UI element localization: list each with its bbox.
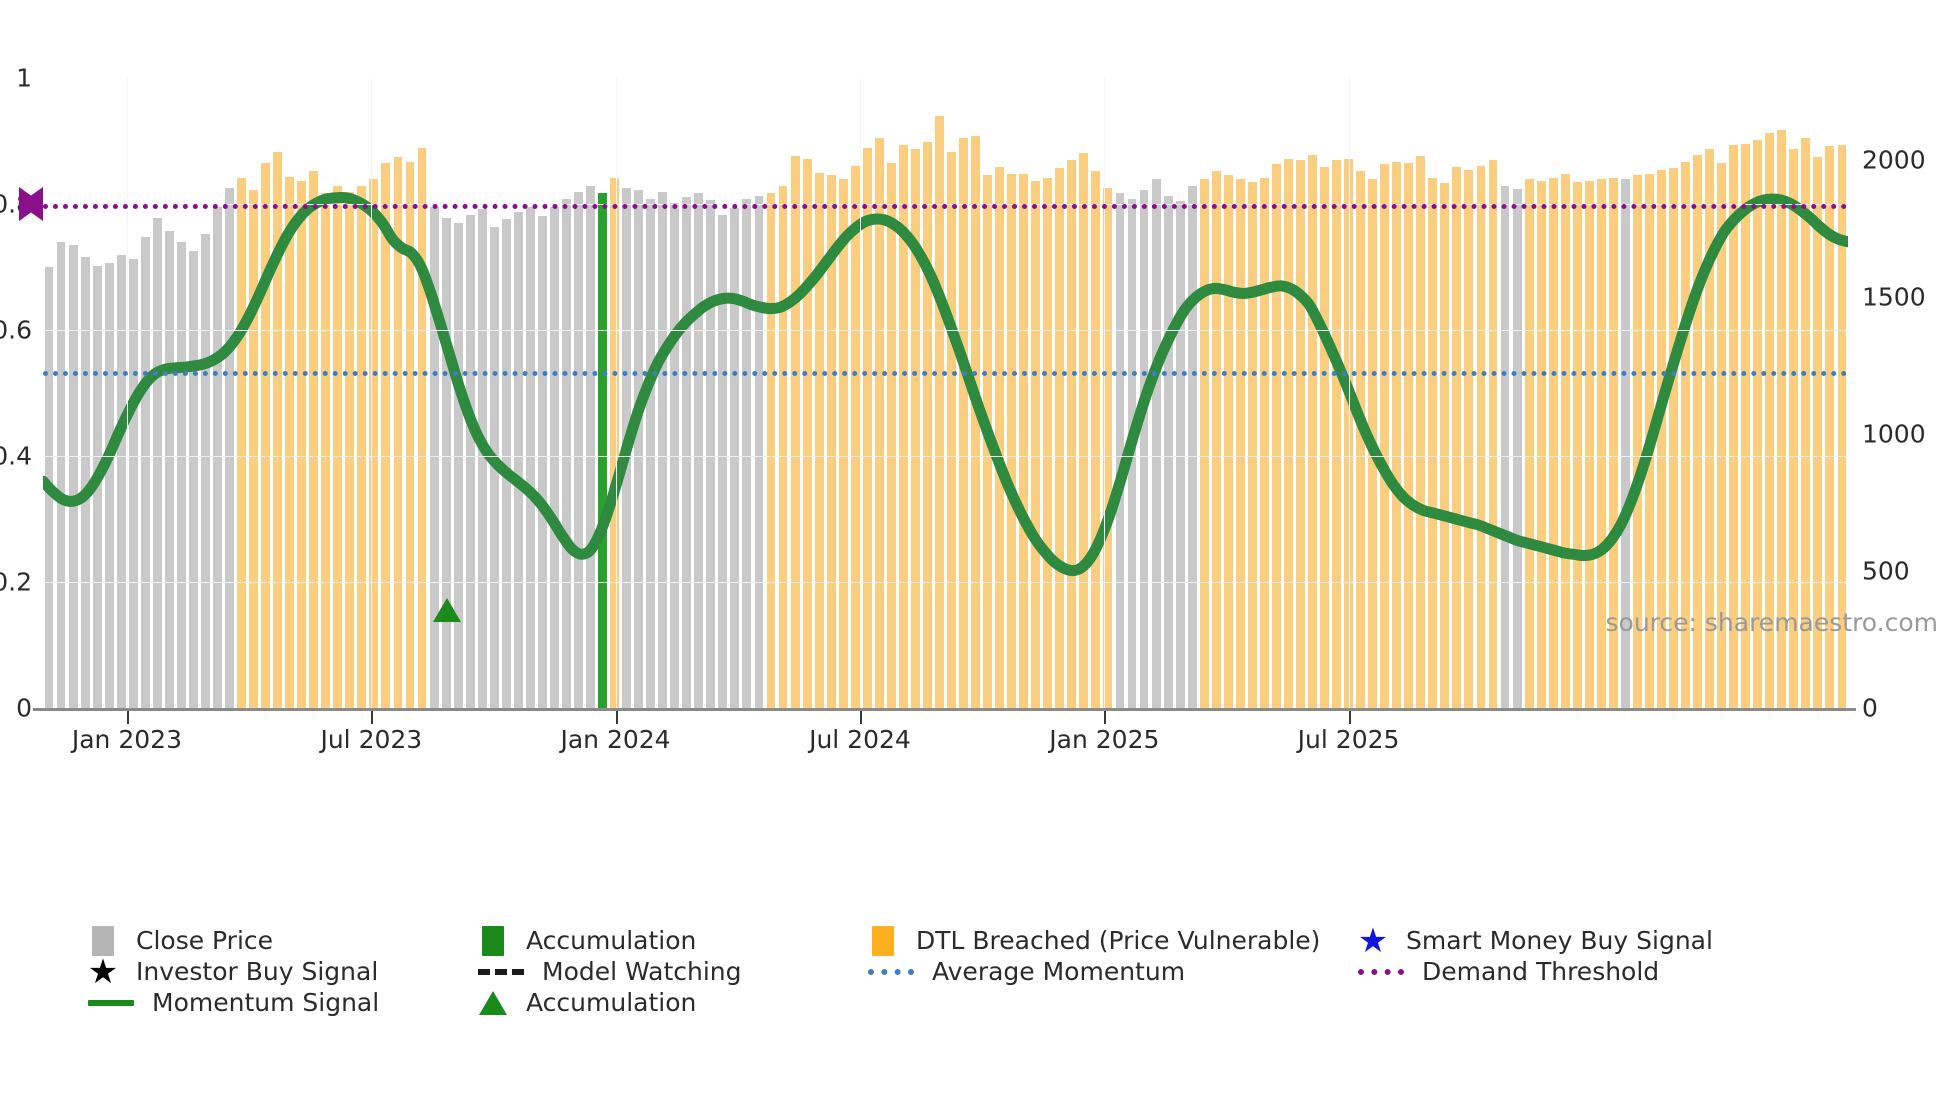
legend-swatch-square	[868, 940, 898, 941]
legend-item-label: DTL Breached (Price Vulnerable)	[916, 926, 1320, 955]
triangle-up-icon	[479, 991, 507, 1015]
accumulation-triangle-marker	[433, 598, 461, 622]
y-axis-right-tick-label: 1500	[1862, 283, 1926, 312]
y-axis-left-tick-label: 0.4	[0, 442, 32, 471]
x-axis-tick-mark	[1104, 711, 1106, 724]
gridline-horizontal	[43, 330, 1848, 331]
legend-item[interactable]: Momentum Signal	[88, 987, 478, 1018]
x-axis-tick-label: Jul 2025	[1298, 725, 1400, 754]
legend-item[interactable]: ★Investor Buy Signal	[88, 956, 478, 987]
gridline-horizontal	[43, 456, 1848, 457]
y-axis-left-tick-label: 0.2	[0, 568, 32, 597]
legend-item-label: Smart Money Buy Signal	[1406, 926, 1713, 955]
chart-legend: Close PriceAccumulationDTL Breached (Pri…	[88, 925, 1948, 1018]
x-axis-tick-mark	[616, 711, 618, 724]
dotted-line-icon	[1358, 969, 1404, 975]
legend-item[interactable]: Accumulation	[478, 925, 868, 956]
star-icon: ★	[1358, 926, 1388, 956]
y-axis-left-tick-label: 0	[16, 694, 32, 723]
chart-root: 00.20.40.60.810500100015002000Jan 2023Ju…	[0, 0, 1960, 1102]
y-axis-right-tick-label: 0	[1862, 694, 1878, 723]
gridline-vertical	[1349, 78, 1350, 708]
x-axis-tick-mark	[127, 711, 129, 724]
legend-swatch-dotted	[1358, 971, 1404, 972]
y-axis-left-tick-label: 1	[16, 64, 32, 93]
x-axis-tick-label: Jan 2023	[72, 725, 182, 754]
x-axis-tick-label: Jul 2023	[320, 725, 422, 754]
gridline-vertical	[127, 78, 128, 708]
legend-item-label: Close Price	[136, 926, 273, 955]
legend-item-label: Model Watching	[542, 957, 742, 986]
x-axis-tick-mark	[1349, 711, 1351, 724]
y-axis-right-tick-label: 500	[1862, 557, 1910, 586]
y-axis-right-tick-label: 1000	[1862, 420, 1926, 449]
legend-swatch-star: ★	[88, 971, 118, 972]
dashed-line-icon	[478, 969, 524, 975]
y-axis-left-tick-label: 0.6	[0, 316, 32, 345]
legend-item-label: Investor Buy Signal	[136, 957, 378, 986]
legend-swatch-dashed	[478, 971, 524, 972]
legend-swatch-square	[478, 940, 508, 941]
x-axis-line	[33, 708, 1856, 711]
legend-item[interactable]: DTL Breached (Price Vulnerable)	[868, 925, 1358, 956]
x-axis-tick-mark	[860, 711, 862, 724]
legend-item-label: Accumulation	[526, 926, 696, 955]
legend-item[interactable]: Accumulation	[478, 987, 868, 1018]
legend-item[interactable]: Close Price	[88, 925, 478, 956]
momentum-signal-line	[43, 197, 1848, 570]
demand-threshold-line	[43, 204, 1848, 209]
legend-swatch-square	[88, 940, 118, 941]
demand-threshold-diamond-marker	[19, 187, 43, 221]
legend-item[interactable]: Model Watching	[478, 956, 868, 987]
legend-swatch-line	[88, 1002, 134, 1003]
legend-item-label: Momentum Signal	[152, 988, 379, 1017]
legend-item[interactable]: ★Smart Money Buy Signal	[1358, 925, 1748, 956]
momentum-line-layer	[43, 78, 1848, 708]
legend-item-label: Accumulation	[526, 988, 696, 1017]
legend-square-icon	[482, 926, 504, 956]
star-icon: ★	[88, 957, 118, 987]
gridline-vertical	[371, 78, 372, 708]
y-axis-right-tick-label: 2000	[1862, 146, 1926, 175]
x-axis-tick-mark	[371, 711, 373, 724]
dotted-line-icon	[868, 969, 914, 975]
legend-square-icon	[872, 926, 894, 956]
gridline-vertical	[860, 78, 861, 708]
x-axis-tick-label: Jul 2024	[809, 725, 911, 754]
plot-area	[43, 78, 1848, 708]
gridline-vertical	[1104, 78, 1105, 708]
legend-square-icon	[92, 926, 114, 956]
x-axis-tick-label: Jan 2024	[560, 725, 670, 754]
x-axis-tick-label: Jan 2025	[1049, 725, 1159, 754]
legend-swatch-star: ★	[1358, 940, 1388, 941]
gridline-horizontal	[43, 582, 1848, 583]
source-note: source: sharemaestro.com	[1606, 608, 1939, 637]
legend-item-label: Demand Threshold	[1422, 957, 1659, 986]
gridline-vertical	[616, 78, 617, 708]
legend-swatch-triangle	[478, 1002, 508, 1003]
average-momentum-line	[43, 371, 1848, 376]
legend-item[interactable]: Average Momentum	[868, 956, 1358, 987]
legend-item[interactable]: Demand Threshold	[1358, 956, 1748, 987]
legend-swatch-dotted	[868, 971, 914, 972]
solid-line-icon	[88, 1000, 134, 1006]
legend-item-label: Average Momentum	[932, 957, 1185, 986]
